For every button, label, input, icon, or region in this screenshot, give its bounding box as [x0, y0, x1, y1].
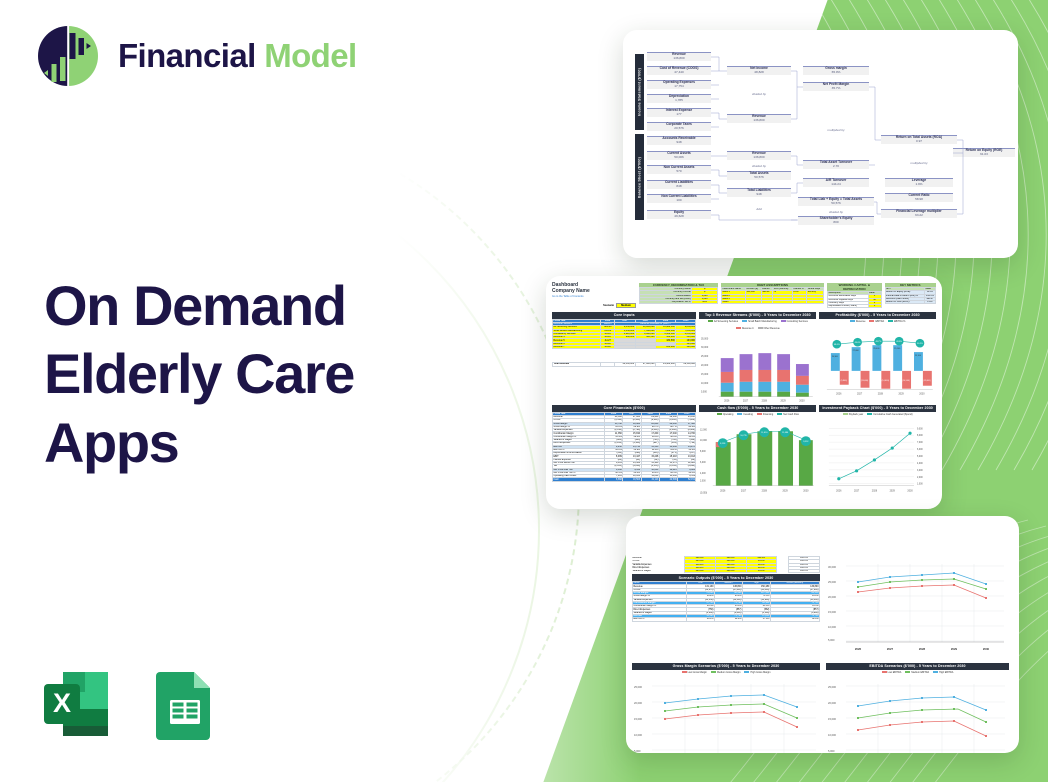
svg-text:2027: 2027	[857, 393, 863, 396]
svg-text:2028: 2028	[872, 490, 878, 493]
svg-text:8,158: 8,158	[721, 444, 727, 446]
pie-bars-logo-icon	[36, 24, 100, 88]
svg-text:5,000: 5,000	[634, 749, 641, 753]
chart-cash-flow: Cash flow ($'000) - 5 Years to December …	[699, 405, 816, 500]
chart-title: EBITDA Scenarios ($'000) - 5 Years to De…	[826, 663, 1009, 670]
svg-text:(2,000): (2,000)	[700, 493, 707, 495]
screenshot-dupont-analysis[interactable]: Income Statement ($'000) Balance Sheet (…	[623, 30, 1018, 258]
chart-title: Investment Payback Chart ($'000) - 5 Yea…	[819, 405, 936, 412]
core-financials-table: Fiscal Year 2026 2027 2028 2029 2030 Rev…	[552, 412, 696, 482]
scenario-sheet: Revenue 100.0% 100.0% 110.0% 100.0% COGS…	[626, 516, 1019, 753]
svg-text:20,000: 20,000	[828, 701, 836, 705]
svg-text:(13,400): (13,400)	[861, 380, 869, 382]
svg-text:11,486: 11,486	[782, 433, 789, 435]
dashboard-header-block: Dashboard Company Name Go to the Table o…	[552, 283, 636, 309]
svg-text:4,000: 4,000	[917, 463, 923, 465]
chart-gross-margin-scenarios: Gross Margin Scenarios ($'000) - 5 Years…	[632, 663, 820, 753]
svg-text:6,000: 6,000	[917, 449, 923, 451]
dupont-diagram: Income Statement ($'000) Balance Sheet (…	[623, 30, 1018, 258]
svg-text:2026: 2026	[725, 400, 731, 403]
svg-text:2,000: 2,000	[917, 477, 923, 479]
core-inputs-title: Core Inputs	[552, 312, 696, 319]
dashboard-sheet: Dashboard Company Name Go to the Table o…	[546, 276, 942, 509]
chart-top-revenue-streams: Top 3 Revenue Streams ($'000) - 5 Years …	[699, 312, 816, 402]
bar-line-chart: 48.0%49.6%49.7%49.8%50.2% 20,30027,00029…	[819, 323, 936, 397]
brand-wordmark: Financial Model	[118, 37, 357, 75]
table-of-contents-link[interactable]: Go to the Table of Contents	[552, 295, 636, 298]
svg-text:15,000: 15,000	[828, 610, 836, 614]
svg-text:49.7%: 49.7%	[876, 342, 882, 344]
scenario-select[interactable]: Medium	[616, 303, 636, 309]
svg-text:8,000: 8,000	[917, 436, 923, 438]
dupont-connector-lines	[623, 30, 1018, 258]
line-chart: 25,000 20,000 15,000 10,000 5,000	[632, 674, 820, 753]
svg-text:9,552: 9,552	[804, 442, 810, 444]
svg-text:10,000: 10,000	[700, 441, 708, 443]
svg-text:(12,600): (12,600)	[923, 380, 931, 382]
svg-text:25,000: 25,000	[828, 580, 836, 584]
slide-canvas: Financial Model On Demand Elderly Care A…	[0, 0, 1048, 782]
svg-text:2027: 2027	[743, 400, 749, 403]
panel-debt-assumptions: DEBT ASSUMPTIONS Loan/Grant Name Amount …	[721, 283, 824, 309]
svg-text:50.2%: 50.2%	[917, 344, 923, 346]
svg-text:30,000: 30,000	[828, 565, 836, 569]
svg-text:5,000: 5,000	[828, 638, 835, 642]
svg-text:49.8%: 49.8%	[896, 342, 902, 344]
chart-ebitda-scenarios: EBITDA Scenarios ($'000) - 5 Years to De…	[826, 663, 1009, 753]
chart-title: Top 3 Revenue Streams ($'000) - 5 Years …	[699, 312, 816, 319]
svg-text:2029: 2029	[951, 647, 958, 651]
svg-text:25,000: 25,000	[634, 685, 642, 689]
svg-text:2026: 2026	[836, 490, 842, 493]
svg-text:3,000: 3,000	[917, 470, 923, 472]
core-financials-panel: Core Financials ($'000) Fiscal Year 2026…	[552, 405, 696, 500]
file-format-icons: X	[36, 664, 224, 744]
svg-text:15,000: 15,000	[701, 373, 709, 376]
chart-investment-payback: Investment Payback Chart ($'000) - 5 Yea…	[819, 405, 936, 500]
brand-word-financial: Financial	[118, 37, 256, 74]
svg-text:2029: 2029	[783, 490, 789, 493]
svg-text:15,000: 15,000	[828, 717, 836, 721]
svg-text:2030: 2030	[983, 647, 990, 651]
screenshot-scenario-analysis[interactable]: Revenue 100.0% 100.0% 110.0% 100.0% COGS…	[626, 516, 1019, 753]
svg-text:2028: 2028	[762, 490, 768, 493]
svg-text:(9,800): (9,800)	[841, 380, 848, 382]
chart-revenue-scenarios: 30,000 25,000 20,000 15,000 10,000 5,000	[826, 556, 1009, 661]
core-inputs-panel: Core Inputs Fiscal Year 2026 2027 2028 2…	[552, 312, 696, 402]
panel-title: WORKING CAPITAL & DEPRECIATION	[827, 283, 881, 291]
scenario-left-column: Revenue 100.0% 100.0% 110.0% 100.0% COGS…	[632, 556, 820, 661]
chart-title: Profitability ($'000) - 5 Years to Decem…	[819, 312, 936, 319]
svg-text:35,000: 35,000	[701, 338, 709, 341]
svg-text:30,000: 30,000	[701, 347, 709, 350]
panel-currency-denomination-tax: CURRENCY, DENOMINATION & TAX Currency Na…	[639, 283, 718, 309]
page-title-line-1: On Demand	[44, 272, 464, 340]
chart-title: Gross Margin Scenarios ($'000) - 5 Years…	[632, 663, 820, 670]
svg-text:11,610: 11,610	[762, 433, 769, 435]
core-financials-title: Core Financials ($'000)	[552, 405, 696, 412]
svg-text:2026: 2026	[836, 393, 842, 396]
brand-logo: Financial Model	[36, 24, 357, 88]
line-chart: 30,000 25,000 20,000 15,000 10,000 5,000	[826, 556, 1009, 656]
svg-text:2028: 2028	[919, 647, 926, 651]
svg-text:20,000: 20,000	[828, 595, 836, 599]
bar-line-chart: 12,00010,0008,000 6,0004,0002,000(2,000)	[699, 416, 816, 496]
svg-text:15,000: 15,000	[634, 717, 642, 721]
svg-text:5,000: 5,000	[917, 456, 923, 458]
svg-text:49.6%: 49.6%	[855, 343, 861, 345]
svg-text:X: X	[53, 688, 71, 718]
page-title: On Demand Elderly Care Apps	[44, 272, 464, 477]
page-title-line-2: Elderly Care	[44, 340, 464, 408]
svg-text:2030: 2030	[920, 393, 926, 396]
svg-text:10,735: 10,735	[741, 436, 748, 438]
svg-text:10,000: 10,000	[828, 625, 836, 629]
svg-text:27,000: 27,000	[853, 350, 860, 352]
svg-text:2030: 2030	[804, 490, 810, 493]
svg-text:29,400: 29,400	[874, 348, 881, 350]
svg-text:2027: 2027	[887, 647, 894, 651]
svg-text:5,000: 5,000	[701, 391, 708, 394]
svg-text:1,000: 1,000	[917, 484, 923, 486]
line-chart: 25,000 20,000 15,000 10,000 5,000	[826, 674, 1009, 753]
scenario-label: Scenario	[603, 304, 614, 307]
svg-text:6,000: 6,000	[700, 462, 706, 464]
svg-text:7,000: 7,000	[917, 443, 923, 445]
svg-text:2029: 2029	[890, 490, 896, 493]
svg-text:29,100: 29,100	[894, 348, 901, 350]
microsoft-excel-icon: X	[36, 664, 116, 744]
svg-text:2028: 2028	[878, 393, 884, 396]
screenshot-dashboard[interactable]: Dashboard Company Name Go to the Table o…	[546, 276, 942, 509]
svg-text:2,000: 2,000	[700, 481, 706, 483]
scenario-outputs-table: Metric Low Medium High Active (Medium) R…	[632, 581, 820, 621]
svg-text:8,000: 8,000	[700, 451, 706, 453]
page-title-line-3: Apps	[44, 409, 464, 477]
svg-text:2026: 2026	[721, 490, 727, 493]
svg-text:25,000: 25,000	[828, 685, 836, 689]
svg-text:10,000: 10,000	[828, 733, 836, 737]
chart-legend: Ad Screening Services Small Batch Manufa…	[699, 319, 816, 331]
svg-text:2030: 2030	[908, 490, 914, 493]
svg-text:10,000: 10,000	[701, 382, 709, 385]
svg-text:5,000: 5,000	[828, 749, 835, 753]
svg-text:2026: 2026	[855, 647, 862, 651]
panel-key-metrics: KEY METRICS NPVValue Return on Equity (R…	[885, 283, 937, 309]
chart-title: Cash flow ($'000) - 5 Years to December …	[699, 405, 816, 412]
panel-working-capital-depreciation: WORKING CAPITAL & DEPRECIATION Assumptio…	[827, 283, 881, 309]
svg-text:2029: 2029	[899, 393, 905, 396]
google-sheets-icon	[144, 664, 224, 744]
svg-text:10,000: 10,000	[634, 733, 642, 737]
svg-text:25,000: 25,000	[701, 355, 709, 358]
svg-text:2030: 2030	[800, 400, 806, 403]
stacked-bar-chart: 35,00030,00025,000 20,00015,00010,0005,0…	[699, 330, 816, 404]
svg-text:2027: 2027	[741, 490, 747, 493]
brand-word-model: Model	[264, 37, 356, 74]
svg-text:(14,600): (14,600)	[882, 380, 890, 382]
scenario-table-title: Scenario Outputs ($'000) - 5 Years to De…	[632, 574, 820, 581]
svg-text:12,000: 12,000	[700, 430, 708, 432]
svg-text:2027: 2027	[854, 490, 860, 493]
svg-text:20,300: 20,300	[832, 356, 839, 358]
chart-profitability: Profitability ($'000) - 5 Years to Decem…	[819, 312, 936, 402]
svg-text:48.0%: 48.0%	[834, 345, 840, 347]
svg-text:2028: 2028	[762, 400, 768, 403]
line-chart: 9,0008,0007,000 6,0005,0004,000 3,0002,0…	[819, 416, 936, 496]
svg-text:9,000: 9,000	[917, 429, 923, 431]
svg-text:2029: 2029	[781, 400, 787, 403]
svg-text:20,000: 20,000	[701, 364, 709, 367]
svg-text:25,100: 25,100	[915, 355, 922, 357]
svg-text:20,000: 20,000	[634, 701, 642, 705]
svg-text:4,000: 4,000	[700, 473, 706, 475]
svg-text:(14,500): (14,500)	[903, 380, 911, 382]
scenario-assumptions-table: Revenue 100.0% 100.0% 110.0% 100.0% COGS…	[632, 556, 820, 573]
